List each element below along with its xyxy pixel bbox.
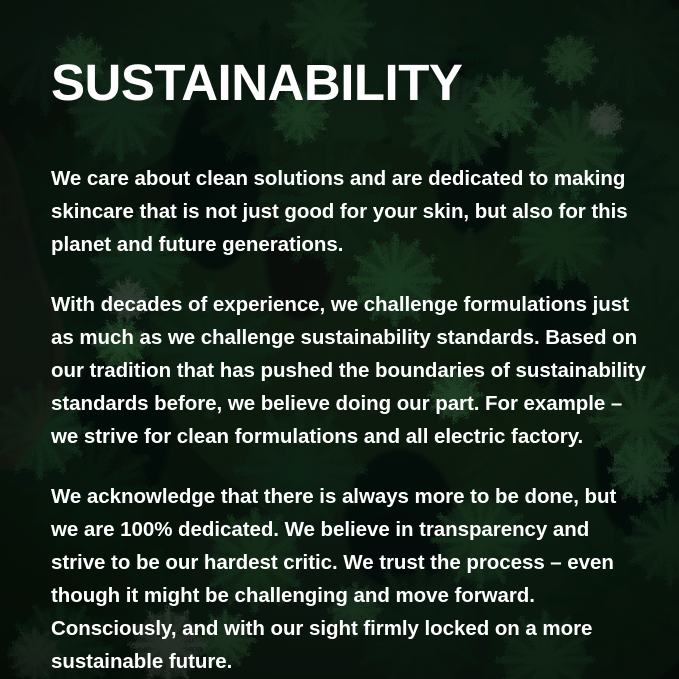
paragraph-2: With decades of experience, we challenge… (51, 288, 646, 453)
paragraph-1: We care about clean solutions and are de… (51, 162, 646, 261)
body-copy: We care about clean solutions and are de… (51, 162, 646, 678)
page-title: SUSTAINABILITY (51, 55, 462, 111)
sustainability-banner: SUSTAINABILITY We care about clean solut… (0, 0, 679, 679)
content-area: SUSTAINABILITY We care about clean solut… (51, 0, 651, 679)
paragraph-3: We acknowledge that there is always more… (51, 480, 646, 678)
